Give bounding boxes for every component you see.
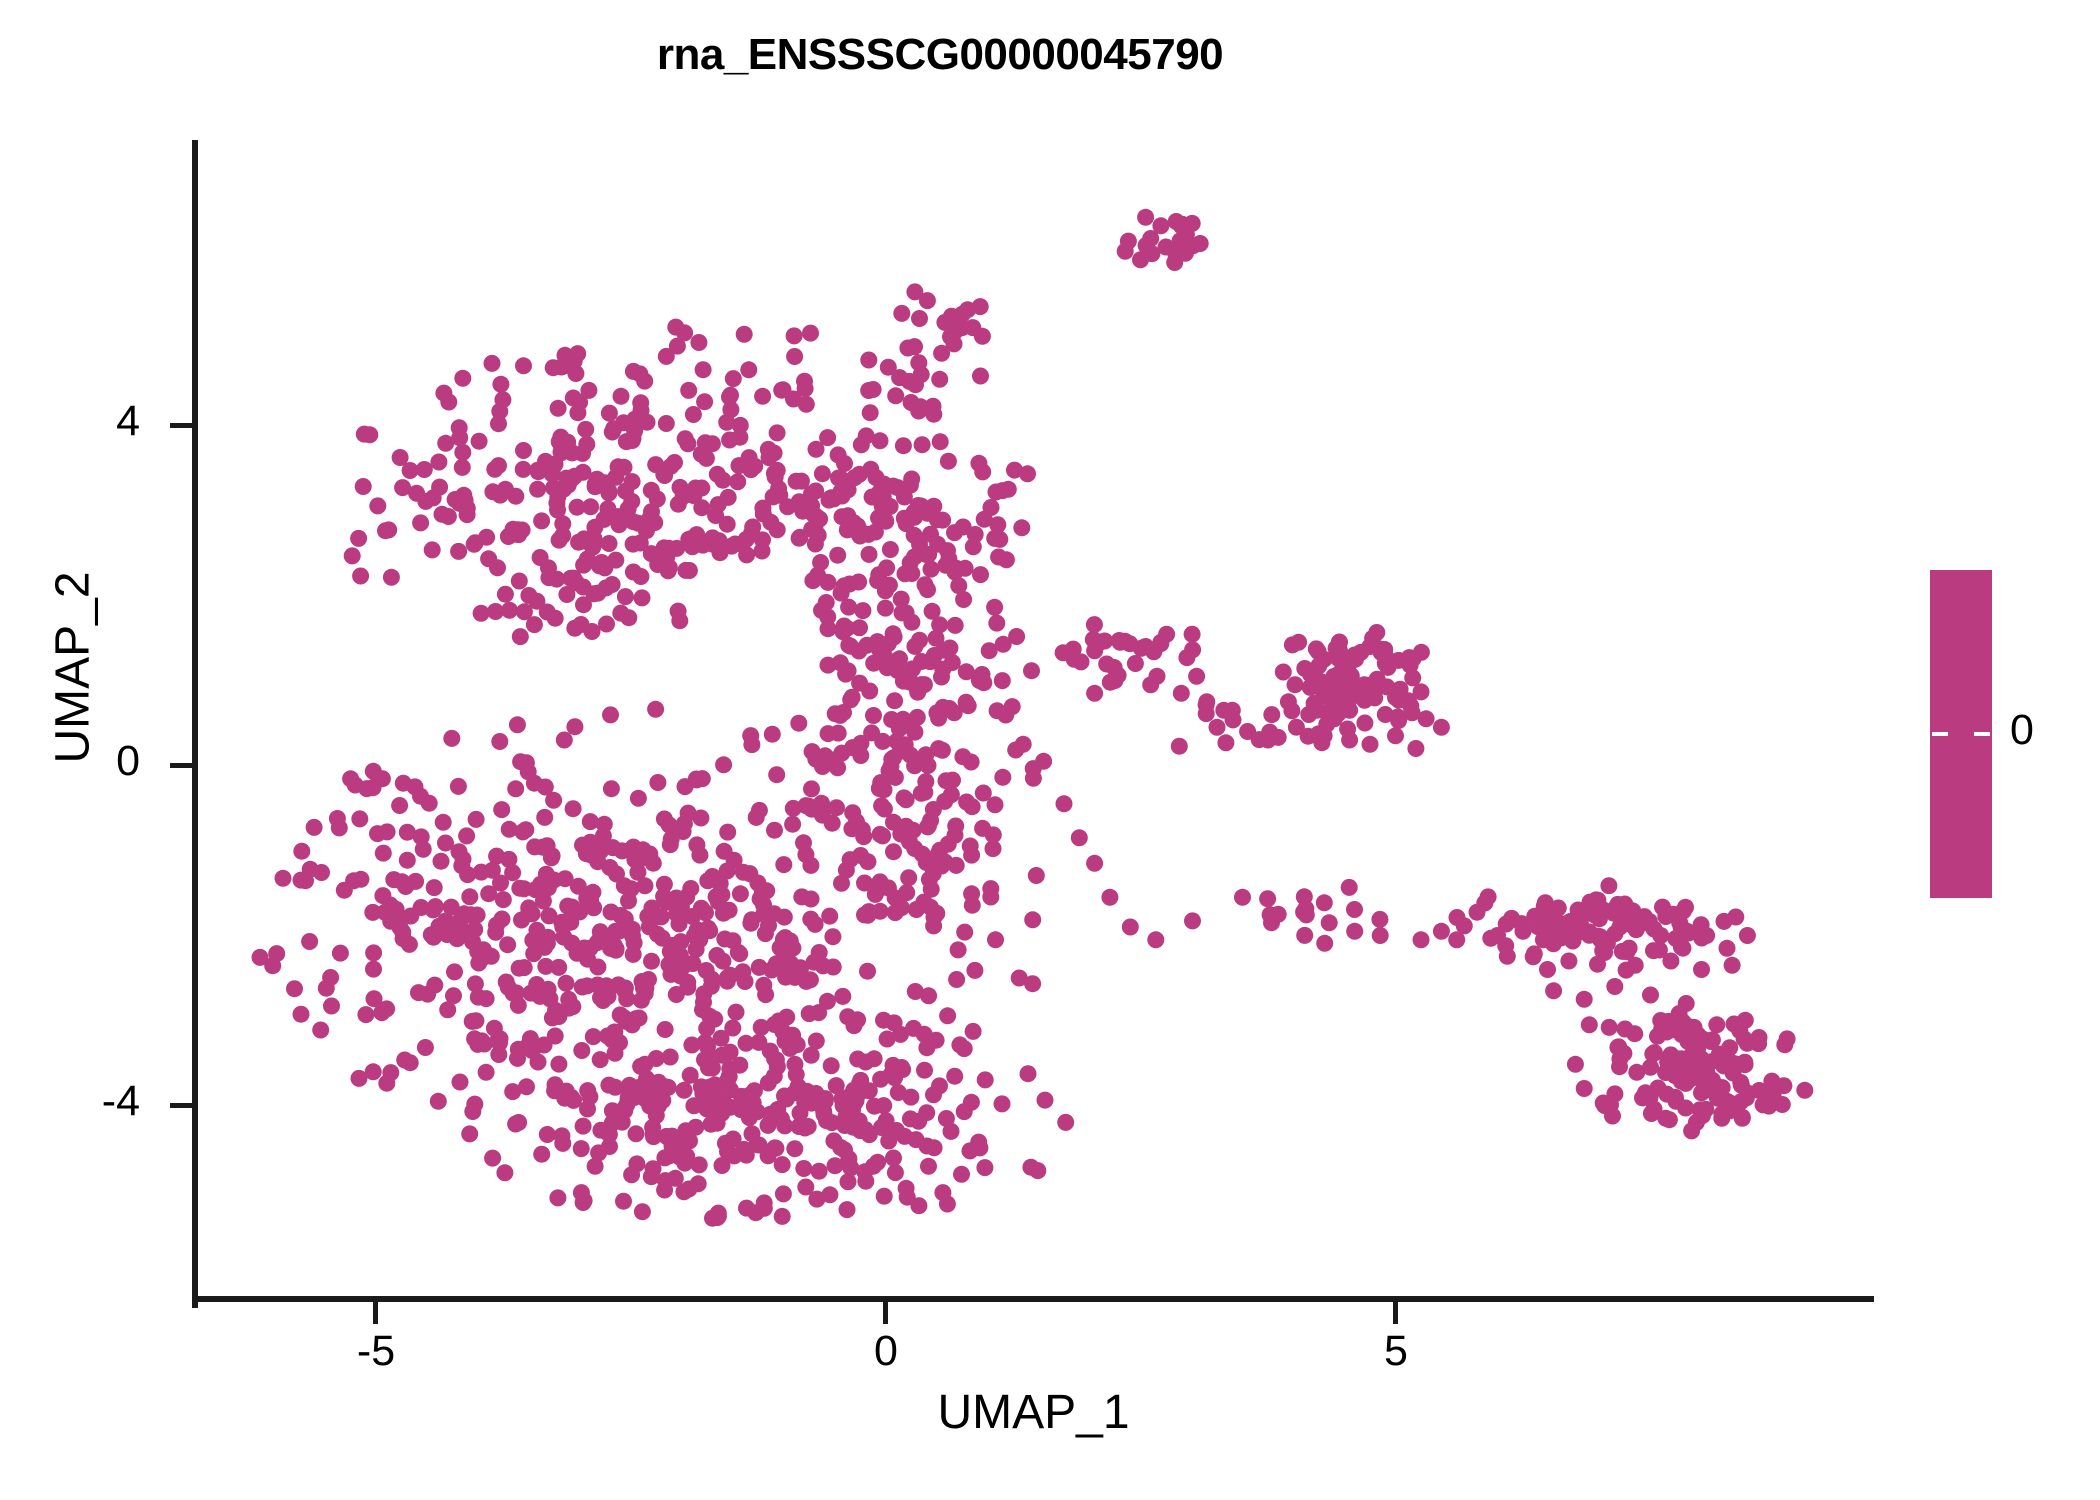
colorbar-tick-right <box>1974 732 1990 736</box>
page-title: rna_ENSSSCG00000045790 <box>0 30 1880 80</box>
y-tick-mark-m4 <box>170 1103 192 1108</box>
y-axis-label: UMAP_2 <box>46 518 101 818</box>
y-tick-label-4: 4 <box>20 400 140 443</box>
scatter-points-layer[interactable] <box>195 140 1872 1302</box>
x-tick-mark-m5 <box>373 1302 378 1324</box>
scatter-point-group <box>252 209 1814 1227</box>
x-tick-label-5: 5 <box>1326 1330 1466 1373</box>
colorbar-tick-left <box>1932 732 1948 736</box>
y-tick-label-m4: -4 <box>20 1080 140 1123</box>
x-tick-label-m5: -5 <box>306 1330 446 1373</box>
legend-colorbar-group: 0 <box>1930 570 2080 910</box>
scatter-svg <box>195 140 1872 1302</box>
plot-panel <box>195 140 1872 1302</box>
x-tick-label-0: 0 <box>816 1330 956 1373</box>
x-axis-label: UMAP_1 <box>195 1385 1872 1440</box>
y-tick-mark-0 <box>170 763 192 768</box>
x-tick-mark-5 <box>1393 1302 1398 1324</box>
y-tick-mark-4 <box>170 423 192 428</box>
umap-figure: rna_ENSSSCG00000045790 4 0 -4 -5 0 5 UMA… <box>0 0 2100 1500</box>
colorbar-tick-label-0: 0 <box>2010 709 2034 752</box>
x-tick-mark-0 <box>883 1302 888 1324</box>
